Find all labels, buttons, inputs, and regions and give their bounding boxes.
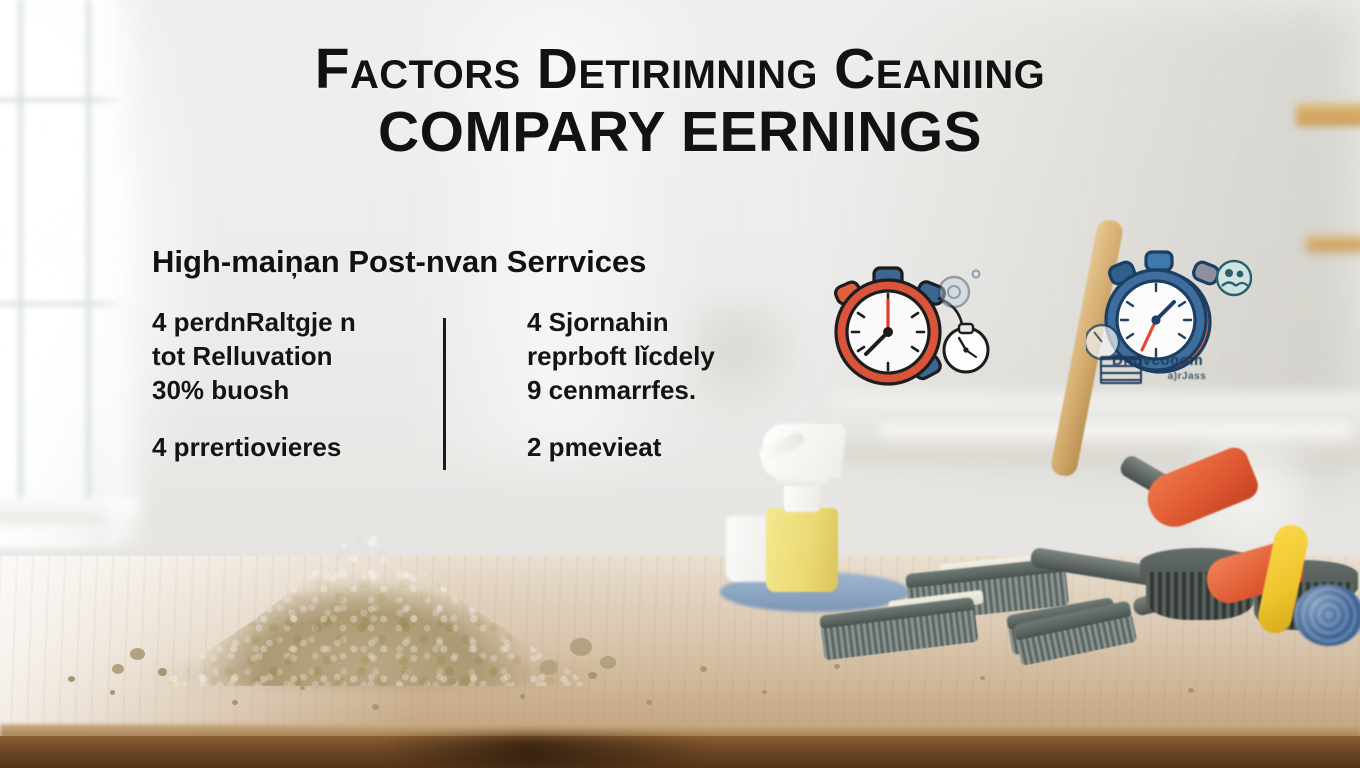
spray-bottle-body bbox=[766, 508, 838, 592]
page-title-line-2: COMPARY EERNINGS bbox=[0, 103, 1360, 162]
dust-clump bbox=[570, 638, 592, 656]
dust-speck bbox=[588, 672, 597, 679]
stopwatch-crown bbox=[1146, 252, 1172, 270]
table-front-shadow bbox=[380, 736, 710, 768]
stopwatch-button-right bbox=[1192, 260, 1221, 286]
dust-speck bbox=[1188, 688, 1194, 693]
dust-speck bbox=[646, 700, 652, 705]
subheading: High-maiņan Post-nvan Serrvices bbox=[152, 244, 646, 280]
dust-speck bbox=[68, 676, 75, 682]
bullet-line: 4 Sjornahin bbox=[527, 306, 817, 340]
dust-pile-texture bbox=[160, 520, 590, 686]
dust-speck bbox=[110, 690, 115, 695]
dust-speck bbox=[980, 676, 985, 680]
wall-shelf bbox=[1306, 236, 1360, 252]
bullet-column-right: 4 Sjornahin reprboft lǐcdely 9 cenmarrfe… bbox=[527, 306, 817, 465]
bullet-line: 30% buosh bbox=[152, 374, 422, 408]
icon-caption-text: Dnqvcooom bbox=[1112, 352, 1203, 369]
stopwatch-icon bbox=[826, 262, 1006, 392]
dust-speck bbox=[300, 686, 305, 690]
bullet-line: 4 perdnRaltgje n bbox=[152, 306, 422, 340]
page-title: Factors Detirimning Ceaniing COMPARY EER… bbox=[0, 40, 1360, 161]
dust-speck bbox=[448, 678, 456, 685]
bullet-line: 9 cenmarrfes. bbox=[527, 374, 817, 408]
dust-speck bbox=[520, 694, 525, 699]
dust-clump bbox=[600, 656, 616, 669]
dust-clump bbox=[540, 660, 558, 675]
bullet-line: tot Relluvation bbox=[152, 340, 422, 374]
ghost-gear-icon bbox=[939, 271, 980, 308]
dust-speck bbox=[158, 668, 167, 676]
dust-speck bbox=[700, 666, 707, 672]
dust-speck bbox=[232, 700, 238, 705]
dust-clump bbox=[112, 664, 124, 674]
poster-canvas: Dnqvcooom a)rJass Factors Detirimning Ce… bbox=[0, 0, 1360, 768]
people-badge-icon bbox=[1217, 261, 1251, 295]
bullet-line: 4 prrertiovieres bbox=[152, 431, 422, 465]
blue-scrub-pad bbox=[1294, 584, 1360, 646]
small-stopwatch-icon bbox=[938, 298, 988, 372]
icon-caption: Dnqvcooom a)rJass bbox=[1112, 352, 1262, 382]
column-divider bbox=[443, 318, 446, 470]
bullet-line: reprboft lǐcdely bbox=[527, 340, 817, 374]
bullet-line: 2 pmevieat bbox=[527, 431, 817, 465]
window-mullion-horizontal bbox=[0, 300, 118, 308]
dust-pile bbox=[100, 498, 680, 698]
page-title-line-1: Factors Detirimning Ceaniing bbox=[315, 37, 1045, 101]
dust-speck bbox=[372, 704, 379, 710]
dust-speck bbox=[762, 690, 767, 694]
dust-clump bbox=[130, 648, 145, 660]
icon-caption-subtext: a)rJass bbox=[1112, 371, 1262, 382]
bullet-column-left: 4 perdnRaltgje n tot Relluvation 30% buo… bbox=[152, 306, 422, 465]
stopwatch-pivot bbox=[883, 327, 893, 337]
stopwatch-pivot bbox=[1151, 315, 1160, 324]
dust-speck bbox=[834, 664, 840, 669]
